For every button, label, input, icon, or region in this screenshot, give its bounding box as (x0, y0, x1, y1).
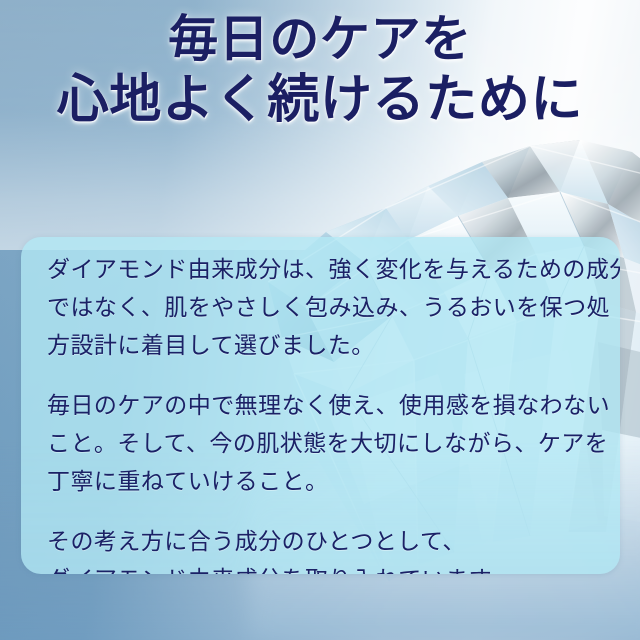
paragraph-1-line-1: ダイアモンド由来成分は、強く変化を与えるための成分 (47, 251, 594, 289)
paragraph-1-line-2: ではなく、肌をやさしく包み込み、うるおいを保つ処 (47, 289, 594, 327)
headline-line-1: 毎日のケアを (0, 8, 640, 70)
paragraph-1: ダイアモンド由来成分は、強く変化を与えるための成分 ではなく、肌をやさしく包み込… (47, 251, 594, 365)
paragraph-2-line-2: こと。そして、今の肌状態を大切にしながら、ケアを (47, 425, 594, 463)
paragraph-3: その考え方に合う成分のひとつとして、 ダイアモンド由来成分を取り入れています。 (47, 523, 594, 574)
paragraph-2-line-1: 毎日のケアの中で無理なく使え、使用感を損なわない (47, 387, 594, 425)
paragraph-2-line-3: 丁寧に重ねていけること。 (47, 463, 594, 501)
paragraph-3-line-1: その考え方に合う成分のひとつとして、 (47, 523, 594, 561)
page-title: 毎日のケアを 心地よく続けるために (0, 8, 640, 132)
paragraph-1-line-3: 方設計に着目して選びました。 (47, 327, 594, 365)
paragraph-2: 毎日のケアの中で無理なく使え、使用感を損なわない こと。そして、今の肌状態を大切… (47, 387, 594, 501)
paragraph-3-line-2: ダイアモンド由来成分を取り入れています。 (47, 561, 594, 574)
description-panel: ダイアモンド由来成分は、強く変化を与えるための成分 ではなく、肌をやさしく包み込… (21, 237, 620, 574)
headline-line-2: 心地よく続けるために (0, 70, 640, 132)
promo-poster: 毎日のケアを 心地よく続けるために ダイアモンド由来成分は、強く変化を与えるため… (0, 0, 640, 640)
